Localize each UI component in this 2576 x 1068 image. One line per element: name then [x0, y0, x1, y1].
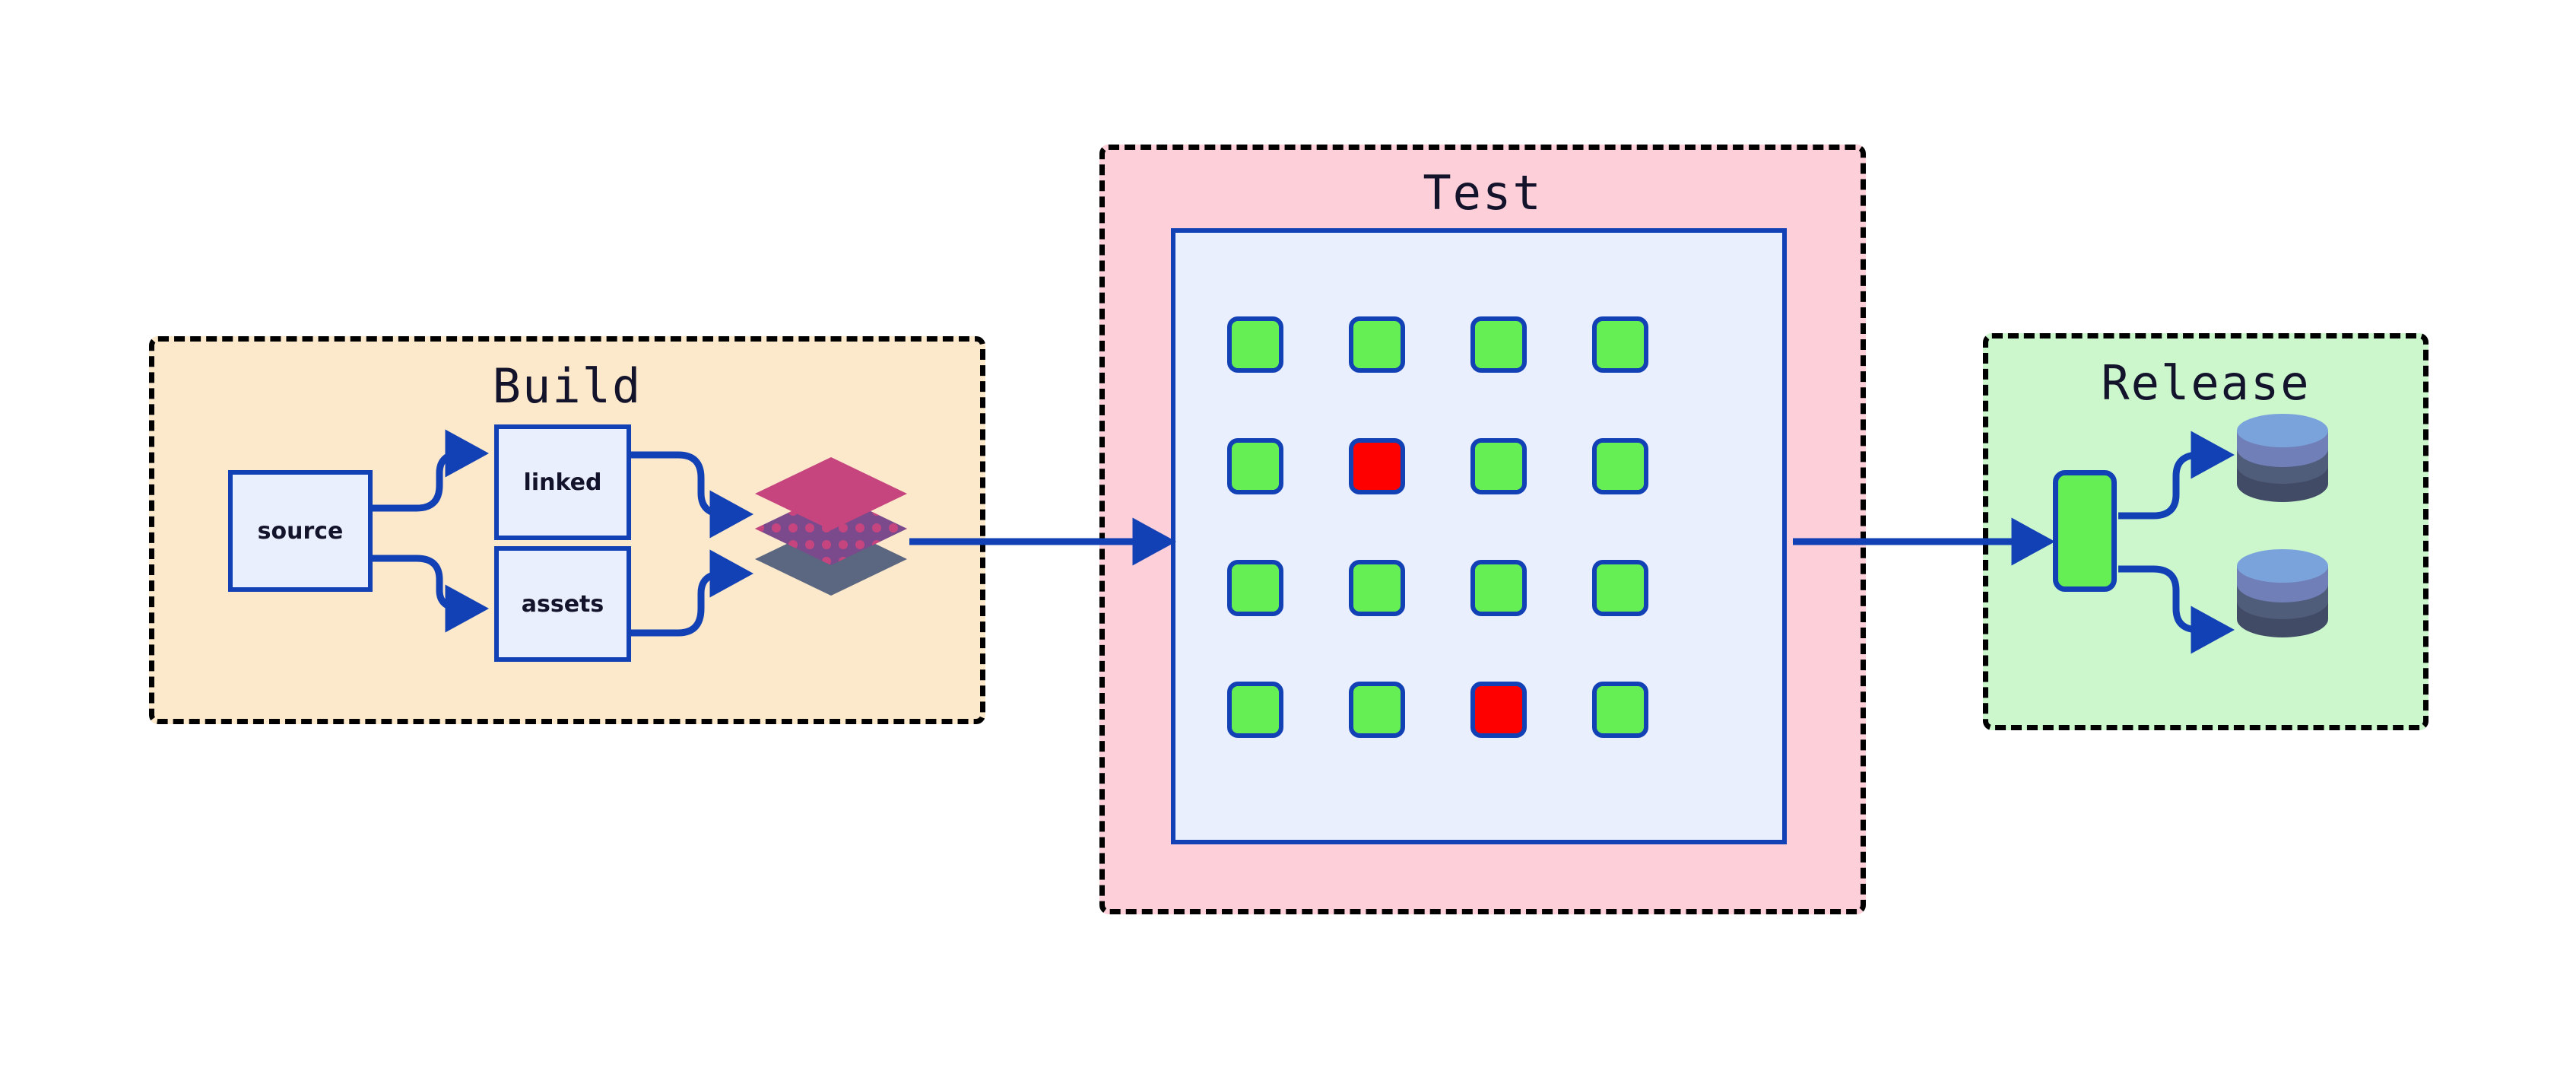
test-cell-pass-r1c2[interactable] — [1349, 316, 1405, 373]
test-cell-pass-r2c1[interactable] — [1227, 438, 1283, 494]
stage-release[interactable]: Release — [1983, 333, 2428, 730]
build-node-source[interactable]: source — [228, 470, 373, 592]
test-cell-pass-r3c3[interactable] — [1470, 560, 1527, 616]
database-icon[interactable] — [2234, 548, 2331, 637]
build-node-linked[interactable]: linked — [494, 424, 631, 540]
stage-release-title: Release — [1988, 355, 2423, 411]
test-cell-fail-r4c3[interactable] — [1470, 682, 1527, 738]
stage-build-title: Build — [154, 358, 980, 414]
test-cell-pass-r2c3[interactable] — [1470, 438, 1527, 494]
test-cell-pass-r1c3[interactable] — [1470, 316, 1527, 373]
release-gate[interactable] — [2053, 470, 2117, 592]
test-results-panel — [1171, 228, 1787, 844]
build-node-assets[interactable]: assets — [494, 546, 631, 662]
test-cell-pass-r4c2[interactable] — [1349, 682, 1405, 738]
build-node-source-label: source — [258, 518, 344, 545]
test-cell-pass-r3c4[interactable] — [1592, 560, 1648, 616]
database-icon[interactable] — [2234, 412, 2331, 502]
layers-icon — [751, 453, 911, 597]
test-results-grid — [1227, 316, 1741, 738]
build-node-linked-label: linked — [524, 469, 602, 496]
test-cell-pass-r3c2[interactable] — [1349, 560, 1405, 616]
test-cell-pass-r3c1[interactable] — [1227, 560, 1283, 616]
test-cell-pass-r1c4[interactable] — [1592, 316, 1648, 373]
test-cell-pass-r1c1[interactable] — [1227, 316, 1283, 373]
test-cell-pass-r4c4[interactable] — [1592, 682, 1648, 738]
diagram-canvas: Build source linked assets Test — [0, 0, 2576, 1068]
test-cell-pass-r2c4[interactable] — [1592, 438, 1648, 494]
build-node-assets-label: assets — [522, 591, 604, 618]
stage-test-title: Test — [1105, 165, 1861, 221]
test-cell-pass-r4c1[interactable] — [1227, 682, 1283, 738]
test-cell-fail-r2c2[interactable] — [1349, 438, 1405, 494]
